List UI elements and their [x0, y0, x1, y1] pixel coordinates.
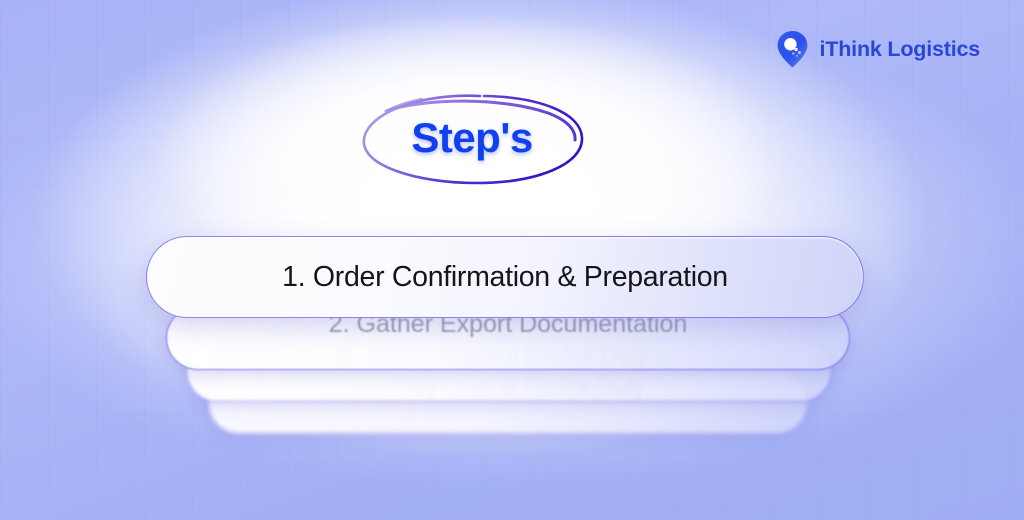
- step-card-stack: 3. Pay Central Excise Duty 3. Pay Centra…: [0, 0, 1024, 520]
- step-card-1[interactable]: 1. Order Confirmation & Preparation: [146, 236, 864, 318]
- step-card-1-label: 1. Order Confirmation & Preparation: [282, 261, 728, 294]
- slide-canvas: iThink Logistics: [0, 0, 1024, 520]
